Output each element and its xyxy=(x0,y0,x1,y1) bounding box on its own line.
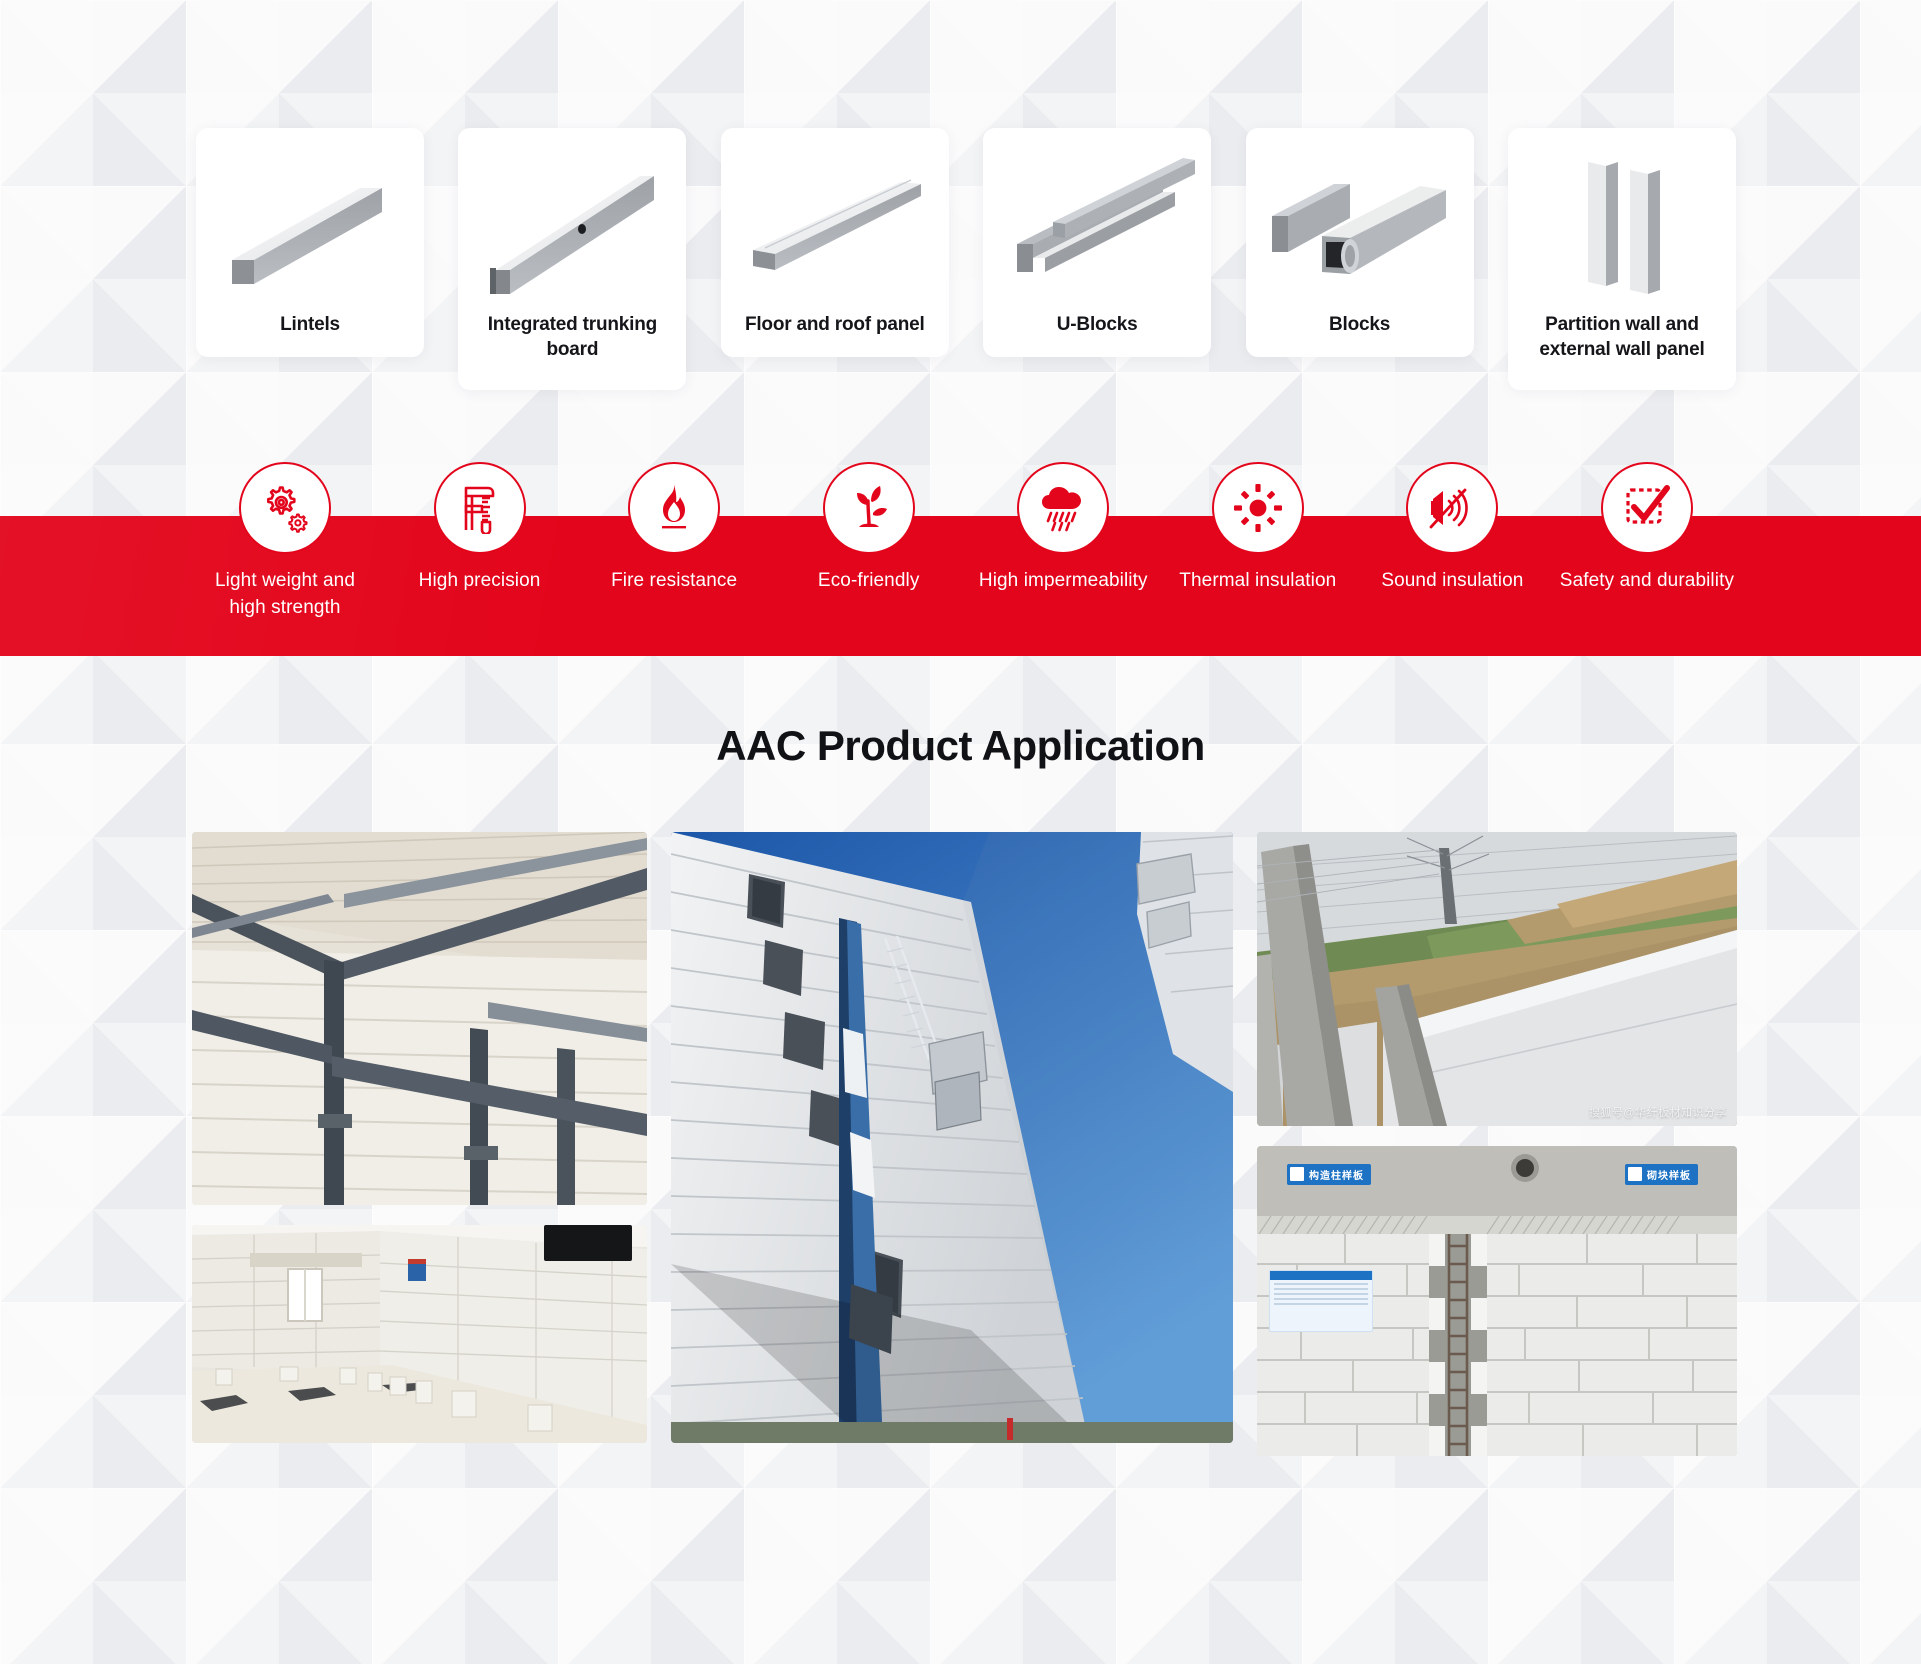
feature-list: Light weight and high strength High prec… xyxy=(196,462,1736,622)
feature-label: Sound insulation xyxy=(1381,568,1523,595)
feature-eco-friendly[interactable]: Eco-friendly xyxy=(780,462,958,595)
gallery-column-left xyxy=(192,832,647,1604)
board-line xyxy=(1274,1303,1368,1305)
feature-label: Light weight and high strength xyxy=(196,568,374,622)
product-label: U-Blocks xyxy=(1057,312,1138,337)
board-line xyxy=(1274,1298,1368,1300)
gears-icon xyxy=(239,462,331,554)
feature-label: Thermal insulation xyxy=(1179,568,1336,595)
site-wall-panel-photo[interactable]: 搜狐号@华纤板材知识分享 xyxy=(1257,832,1737,1126)
block-icon xyxy=(1260,152,1460,302)
feature-high-precision[interactable]: High precision xyxy=(391,462,569,595)
product-card-integrated-trunking-board[interactable]: Integrated trunking board xyxy=(458,128,686,390)
product-label: Integrated trunking board xyxy=(470,312,674,362)
u-block-icon xyxy=(997,152,1197,302)
product-label: Partition wall and external wall panel xyxy=(1520,312,1724,362)
gallery-column-middle xyxy=(671,832,1233,1604)
product-label: Lintels xyxy=(280,312,340,337)
product-card-lintels[interactable]: Lintels xyxy=(196,128,424,357)
sun-icon xyxy=(1212,462,1304,554)
product-card-list: Lintels Integrated trunking board xyxy=(196,128,1736,390)
photo-watermark: 搜狐号@华纤板材知识分享 xyxy=(1589,1104,1727,1120)
board-header xyxy=(1270,1271,1372,1280)
feature-thermal-insulation[interactable]: Thermal insulation xyxy=(1169,462,1347,595)
gallery-column-right: 搜狐号@华纤板材知识分享 xyxy=(1257,832,1737,1604)
muted-speaker-icon xyxy=(1406,462,1498,554)
feature-high-impermeability[interactable]: High impermeability xyxy=(974,462,1152,595)
aac-facade-panel-photo[interactable] xyxy=(671,832,1233,1443)
partition-wall-panel-icon xyxy=(1522,152,1722,302)
page-root: Lintels Integrated trunking board xyxy=(0,0,1921,1664)
lintel-bar-icon xyxy=(210,152,410,302)
feature-fire-resistance[interactable]: Fire resistance xyxy=(585,462,763,595)
board-line xyxy=(1274,1283,1368,1285)
trunking-board-icon xyxy=(472,152,672,302)
product-card-blocks[interactable]: Blocks xyxy=(1246,128,1474,357)
board-line xyxy=(1274,1288,1368,1290)
sign-constructional-column: 构造柱样板 xyxy=(1287,1164,1371,1185)
product-label: Floor and roof panel xyxy=(745,312,925,337)
sign-block-sample: 砌块样板 xyxy=(1625,1164,1698,1185)
product-card-floor-and-roof-panel[interactable]: Floor and roof panel xyxy=(721,128,949,357)
product-card-partition-wall-panel[interactable]: Partition wall and external wall panel xyxy=(1508,128,1736,390)
feature-sound-insulation[interactable]: Sound insulation xyxy=(1363,462,1541,595)
feature-label: Safety and durability xyxy=(1560,568,1734,595)
board-line xyxy=(1274,1293,1368,1295)
caliper-icon xyxy=(434,462,526,554)
block-wall-showroom-photo[interactable] xyxy=(192,1225,647,1443)
sample-info-board xyxy=(1269,1270,1373,1332)
rain-cloud-icon xyxy=(1017,462,1109,554)
checkbox-check-icon xyxy=(1601,462,1693,554)
application-gallery: 搜狐号@华纤板材知识分享 xyxy=(192,832,1737,1604)
sprout-icon xyxy=(823,462,915,554)
feature-safety-and-durability[interactable]: Safety and durability xyxy=(1558,462,1736,595)
feature-label: High impermeability xyxy=(979,568,1148,595)
flame-icon xyxy=(628,462,720,554)
block-sample-wall-photo[interactable]: 构造柱样板 砌块样板 xyxy=(1257,1146,1737,1456)
product-label: Blocks xyxy=(1329,312,1390,337)
feature-light-weight-high-strength[interactable]: Light weight and high strength xyxy=(196,462,374,622)
feature-label: Eco-friendly xyxy=(818,568,920,595)
page-title: AAC Product Application xyxy=(0,722,1921,770)
feature-label: Fire resistance xyxy=(611,568,737,595)
feature-label: High precision xyxy=(419,568,541,595)
steel-structure-roof-panel-photo[interactable] xyxy=(192,832,647,1205)
floor-roof-panel-icon xyxy=(735,152,935,302)
product-card-u-blocks[interactable]: U-Blocks xyxy=(983,128,1211,357)
